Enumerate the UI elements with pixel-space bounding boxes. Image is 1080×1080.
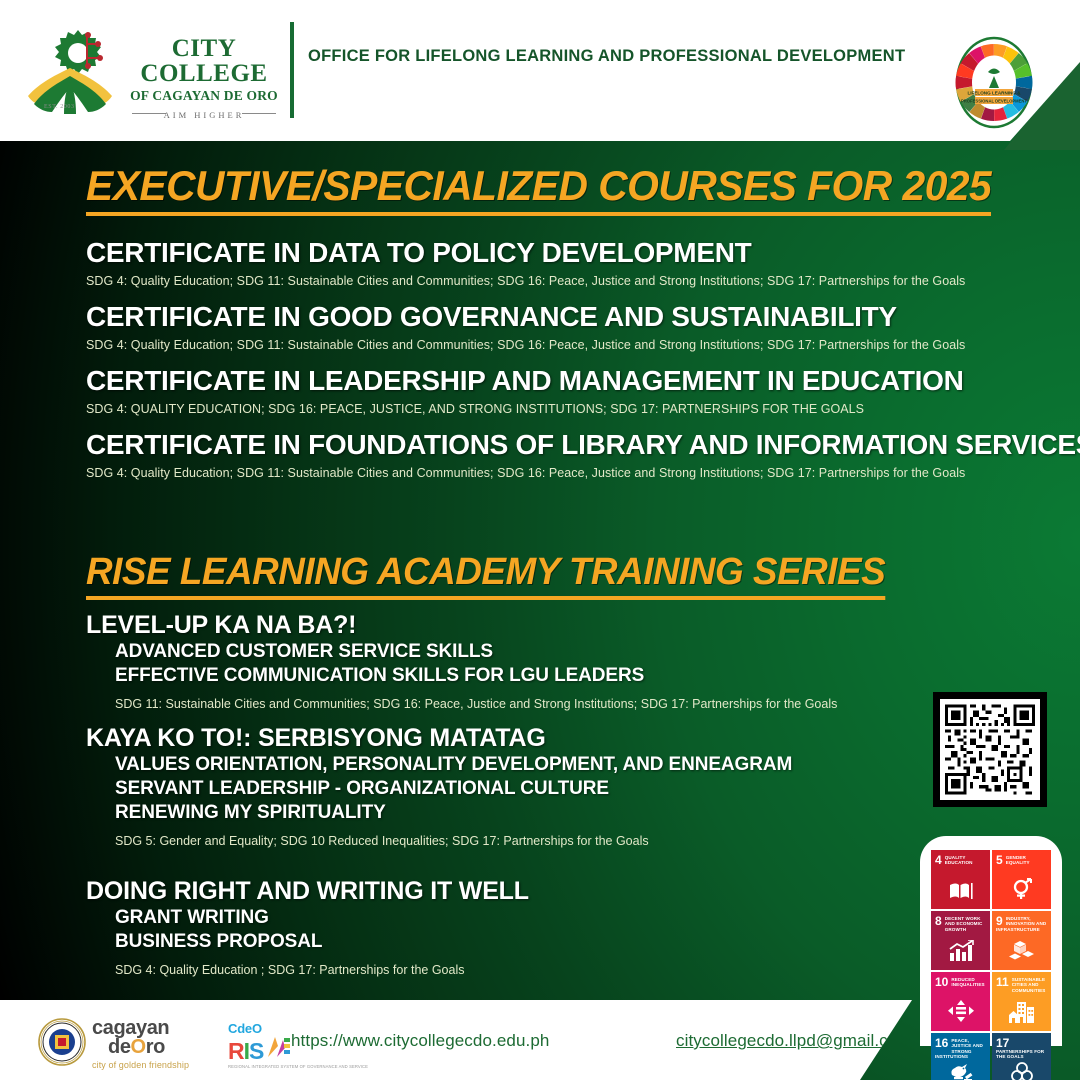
gender-equality-icon [992,877,1051,906]
poster-canvas: CITY COLLEGE OF CAGAYAN DE ORO AIM HIGHE… [0,0,1080,1080]
sdg-number: 10 [935,976,948,988]
cdo-tagline: city of golden friendship [92,1060,189,1070]
sdg-number: 8 [935,915,942,927]
program-title: KAYA KO TO!: SERBISYONG MATATAG [86,725,792,753]
program-title: LEVEL-UP KA NA BA?! [86,612,837,640]
course-sdg-tags: SDG 4: Quality Education; SDG 11: Sustai… [86,338,965,352]
sdg-number: 11 [996,976,1009,988]
sdg-goal-10: 10 REDUCED INEQUALITIES [931,972,990,1031]
college-subname: OF CAGAYAN DE ORO [128,89,280,103]
course-sdg-tags: SDG 4: Quality Education; SDG 11: Sustai… [86,274,965,288]
ris-wordmark: RIS [228,1041,263,1062]
college-established: EST. 2003 [44,104,75,110]
email-address[interactable]: citycollegecdo.llpd@gmail.com [676,1031,912,1051]
college-name: CITY COLLEGE [128,36,280,86]
program-item: LEVEL-UP KA NA BA?! ADVANCED CUSTOMER SE… [86,612,837,711]
sdg-label: INDUSTRY, INNOVATION AND INFRASTRUCTURE [996,915,1048,932]
buildings-icon [992,1001,1051,1028]
program-subitem: ADVANCED CUSTOMER SERVICE SKILLS [115,640,837,664]
llpd-seal-icon: LIFELONG LEARNING & PROFESSIONAL DEVELOP… [955,36,1033,129]
program-title: DOING RIGHT AND WRITING IT WELL [86,878,529,906]
city-college-wordmark: CITY COLLEGE OF CAGAYAN DE ORO AIM HIGHE… [128,36,280,118]
cdo-ro: ro [146,1036,165,1058]
course-item: CERTIFICATE IN DATA TO POLICY DEVELOPMEN… [86,238,965,288]
program-sdg-tags: SDG 5: Gender and Equality; SDG 10 Reduc… [115,834,792,848]
qr-code[interactable] [933,692,1047,807]
sdg-number: 17 [996,1037,1009,1049]
sdg-number: 16 [935,1037,948,1049]
sdg-goal-9: 9 INDUSTRY, INNOVATION AND INFRASTRUCTUR… [992,911,1051,970]
sdg-goal-11: 11 SUSTAINABLE CITIES AND COMMUNITIES [992,972,1051,1031]
section-two-headline: RISE LEARNING ACADEMY TRAINING SERIES [86,551,885,600]
course-title: CERTIFICATE IN FOUNDATIONS OF LIBRARY AN… [86,430,1080,459]
course-title: CERTIFICATE IN GOOD GOVERNANCE AND SUSTA… [86,302,965,331]
dove-gavel-icon [931,1062,990,1080]
seal-text-line2: PROFESSIONAL DEVELOPMENT [961,98,1027,103]
sdg-label: QUALITY EDUCATION [935,854,987,866]
section-one-headline-text: EXECUTIVE/SPECIALIZED COURSES FOR 2025 [86,162,991,216]
cdo-line-2: deOro [108,1038,189,1057]
program-subitem: GRANT WRITING [115,906,529,930]
course-sdg-tags: SDG 4: Quality Education; SDG 11: Sustai… [86,466,1080,480]
sdg-goal-5: 5 GENDER EQUALITY [992,850,1051,909]
course-item: CERTIFICATE IN GOOD GOVERNANCE AND SUSTA… [86,302,965,352]
college-tagline: AIM HIGHER [128,110,280,120]
sdg-goal-16: 16 PEACE, JUSTICE AND STRONG INSTITUTION… [931,1033,990,1080]
course-sdg-tags: SDG 4: QUALITY EDUCATION; SDG 16: PEACE,… [86,402,964,416]
book-icon [931,881,990,906]
seal-text-line1: LIFELONG LEARNING & [967,90,1021,95]
sdg-number: 5 [996,854,1003,866]
program-item: KAYA KO TO!: SERBISYONG MATATAG VALUES O… [86,725,792,848]
ris-subtitle: REGIONAL INTEGRATED SYSTEM OF GOVERNANCE… [228,1064,368,1069]
header-divider [290,22,294,118]
program-subitem: VALUES ORIENTATION, PERSONALITY DEVELOPM… [115,753,792,777]
course-item: CERTIFICATE IN LEADERSHIP AND MANAGEMENT… [86,366,964,416]
partnership-circles-icon [992,1062,1051,1080]
footer-bar: cagayan deOro city of golden friendship … [0,1000,1080,1080]
program-subitem: BUSINESS PROPOSAL [115,930,529,954]
program-sdg-tags: SDG 4: Quality Education ; SDG 17: Partn… [115,963,529,977]
section-one-headline: EXECUTIVE/SPECIALIZED COURSES FOR 2025 [86,162,991,216]
header-bar: CITY COLLEGE OF CAGAYAN DE ORO AIM HIGHE… [0,0,1080,141]
ris-mark-icon [265,1035,291,1061]
course-title: CERTIFICATE IN LEADERSHIP AND MANAGEMENT… [86,366,964,395]
wordmark-rule: AIM HIGHER [128,110,280,118]
cagayan-de-oro-wordmark: cagayan deOro city of golden friendship [92,1019,189,1070]
office-title: OFFICE FOR LIFELONG LEARNING AND PROFESS… [308,46,905,68]
sdg-goal-17: 17 PARTNERSHIPS FOR THE GOALS [992,1033,1051,1080]
sdg-number: 9 [996,915,1003,927]
cdo-o: O [131,1036,146,1058]
sdg-number: 4 [935,854,942,866]
sdg-goals-panel: 4 QUALITY EDUCATION 5 GENDER EQUALITY 8 … [920,836,1062,1046]
program-subitem: SERVANT LEADERSHIP - ORGANIZATIONAL CULT… [115,777,792,801]
course-item: CERTIFICATE IN FOUNDATIONS OF LIBRARY AN… [86,430,1080,480]
blocks-icon [992,940,1051,967]
program-item: DOING RIGHT AND WRITING IT WELL GRANT WR… [86,878,529,977]
equals-arrows-icon [931,999,990,1028]
cdo-de: de [108,1036,131,1058]
program-sdg-tags: SDG 11: Sustainable Cities and Communiti… [115,697,837,711]
cagayan-de-oro-seal-icon [38,1018,86,1066]
program-subitem: RENEWING MY SPIRITUALITY [115,801,792,825]
section-two-headline-text: RISE LEARNING ACADEMY TRAINING SERIES [86,551,885,600]
sdg-goal-4: 4 QUALITY EDUCATION [931,850,990,909]
website-url[interactable]: https://www.citycollegecdo.edu.ph [291,1031,549,1051]
program-subitem: EFFECTIVE COMMUNICATION SKILLS FOR LGU L… [115,664,837,688]
sdg-grid: 4 QUALITY EDUCATION 5 GENDER EQUALITY 8 … [931,850,1051,1080]
sdg-label: DECENT WORK AND ECONOMIC GROWTH [935,915,987,932]
course-title: CERTIFICATE IN DATA TO POLICY DEVELOPMEN… [86,238,965,267]
sdg-goal-8: 8 DECENT WORK AND ECONOMIC GROWTH [931,911,990,970]
growth-chart-icon [931,940,990,967]
sdg-label: GENDER EQUALITY [996,854,1048,866]
